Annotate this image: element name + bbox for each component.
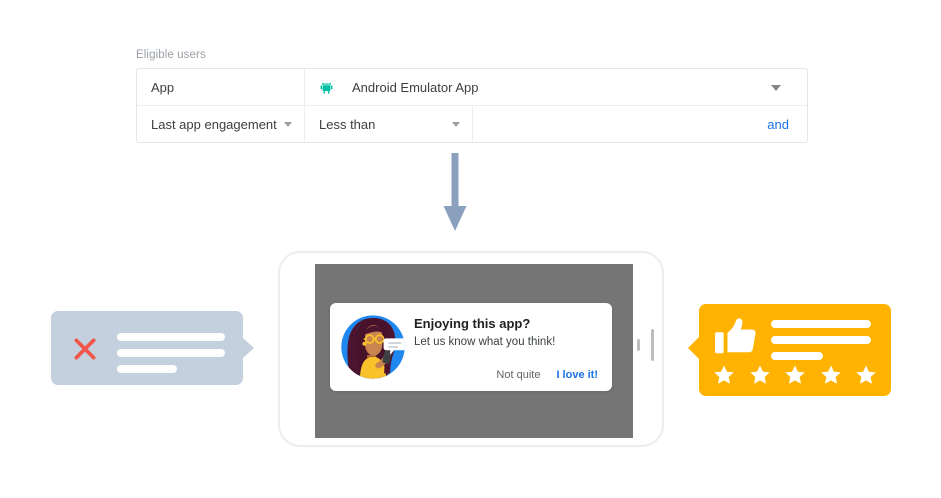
condition-row-app: App [137, 69, 807, 106]
negative-feedback-callout [51, 311, 243, 385]
x-close-icon [72, 336, 98, 362]
down-arrow-icon [440, 153, 470, 233]
placeholder-line [771, 352, 823, 360]
placeholder-line [117, 365, 177, 373]
app-field-label-cell[interactable]: App [137, 69, 305, 105]
placeholder-line [771, 320, 871, 328]
app-field-label: App [151, 80, 174, 95]
i-love-it-button[interactable]: I love it! [556, 369, 598, 381]
positive-feedback-callout [699, 304, 891, 396]
app-value-text: Android Emulator App [352, 80, 478, 95]
diagram-canvas: Eligible users App [0, 0, 941, 498]
callout-tail [688, 337, 699, 359]
not-quite-button[interactable]: Not quite [496, 369, 540, 381]
app-value-select[interactable]: Android Emulator App [305, 69, 807, 105]
star-icon[interactable] [749, 364, 771, 386]
power-button[interactable] [651, 329, 654, 361]
dialog-subtitle: Let us know what you think! [414, 335, 598, 350]
operator-select[interactable]: Less than [305, 106, 473, 142]
value-input-cell[interactable]: and [473, 106, 807, 142]
dialog-actions: Not quite I love it! [496, 369, 598, 381]
chevron-down-icon[interactable] [452, 122, 460, 127]
chevron-down-icon[interactable] [771, 85, 781, 91]
eligible-users-form: Eligible users App [136, 48, 808, 143]
user-avatar-illustration [340, 314, 406, 380]
placeholder-line [117, 349, 225, 357]
form-section-label: Eligible users [136, 48, 808, 62]
star-icon[interactable] [855, 364, 877, 386]
chevron-down-icon[interactable] [284, 122, 292, 127]
volume-button[interactable] [637, 339, 640, 351]
operator-label: Less than [319, 117, 375, 132]
android-robot-icon [319, 80, 334, 95]
star-rating[interactable] [713, 364, 877, 386]
placeholder-line [771, 336, 871, 344]
condition-row-engagement: Last app engagement Less than and [137, 106, 807, 142]
star-icon[interactable] [820, 364, 842, 386]
condition-card: App [136, 68, 808, 143]
thumbs-up-icon [714, 316, 760, 358]
dialog-body: Enjoying this app? Let us know what you … [406, 313, 598, 381]
star-icon[interactable] [713, 364, 735, 386]
and-link[interactable]: and [767, 117, 789, 132]
placeholder-line [117, 333, 225, 341]
engagement-field-label: Last app engagement [151, 117, 277, 132]
rating-dialog: Enjoying this app? Let us know what you … [330, 303, 612, 391]
callout-tail [243, 338, 254, 358]
positive-text-placeholder-lines [771, 320, 871, 360]
star-icon[interactable] [784, 364, 806, 386]
dialog-title: Enjoying this app? [414, 316, 598, 332]
engagement-field-select[interactable]: Last app engagement [137, 106, 305, 142]
negative-text-placeholder-lines [117, 333, 225, 373]
